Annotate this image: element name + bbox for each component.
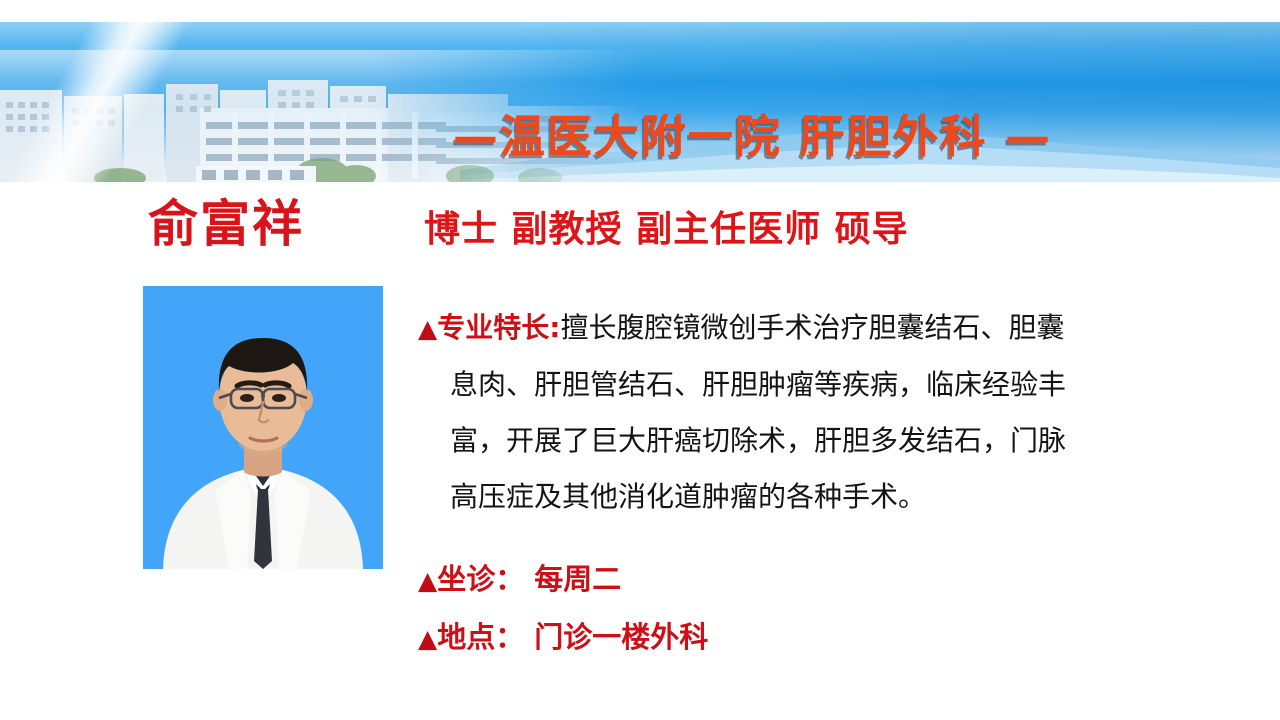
triangle-bullet-icon: ▲ bbox=[418, 624, 437, 653]
specialty-text-1: 擅长腹腔镜微创手术治疗胆囊结石、胆囊 bbox=[560, 311, 1064, 344]
doctor-credentials: 博士 副教授 副主任医师 硕导 bbox=[424, 212, 909, 248]
schedule-section: ▲坐诊：每周二 ▲地点：门诊一楼外科 bbox=[418, 551, 1118, 667]
specialty-line-4: 高压症及其他消化道肿瘤的各种手术。 bbox=[418, 469, 1186, 525]
doctor-portrait bbox=[143, 286, 383, 569]
specialty-section: ▲专业特长:擅长腹腔镜微创手术治疗胆囊结石、胆囊 息肉、肝胆管结石、肝胆肿瘤等疾… bbox=[418, 300, 1186, 525]
specialty-line-3: 富，开展了巨大肝癌切除术，肝胆多发结石，门脉 bbox=[418, 413, 1186, 469]
triangle-bullet-icon: ▲ bbox=[418, 566, 437, 595]
clinic-day-label: 坐诊： bbox=[437, 562, 524, 596]
clinic-location-label: 地点： bbox=[437, 620, 524, 654]
clinic-day-value: 每周二 bbox=[524, 562, 621, 596]
header-banner: —温医大附一院 肝胆外科 — bbox=[0, 22, 1280, 182]
clinic-day-row: ▲坐诊：每周二 bbox=[418, 551, 1118, 609]
clinic-location-row: ▲地点：门诊一楼外科 bbox=[418, 609, 1118, 667]
triangle-bullet-icon: ▲ bbox=[418, 314, 437, 343]
doctor-name: 俞富祥 bbox=[148, 199, 304, 249]
portrait-illustration bbox=[143, 286, 383, 569]
clinic-location-value: 门诊一楼外科 bbox=[524, 620, 708, 654]
specialty-label: 专业特长: bbox=[437, 311, 560, 344]
banner-title: —温医大附一院 肝胆外科 — bbox=[0, 100, 1280, 165]
specialty-line-2: 息肉、肝胆管结石、肝胆肿瘤等疾病，临床经验丰 bbox=[418, 357, 1186, 413]
specialty-line-1: ▲专业特长:擅长腹腔镜微创手术治疗胆囊结石、胆囊 bbox=[418, 300, 1186, 357]
